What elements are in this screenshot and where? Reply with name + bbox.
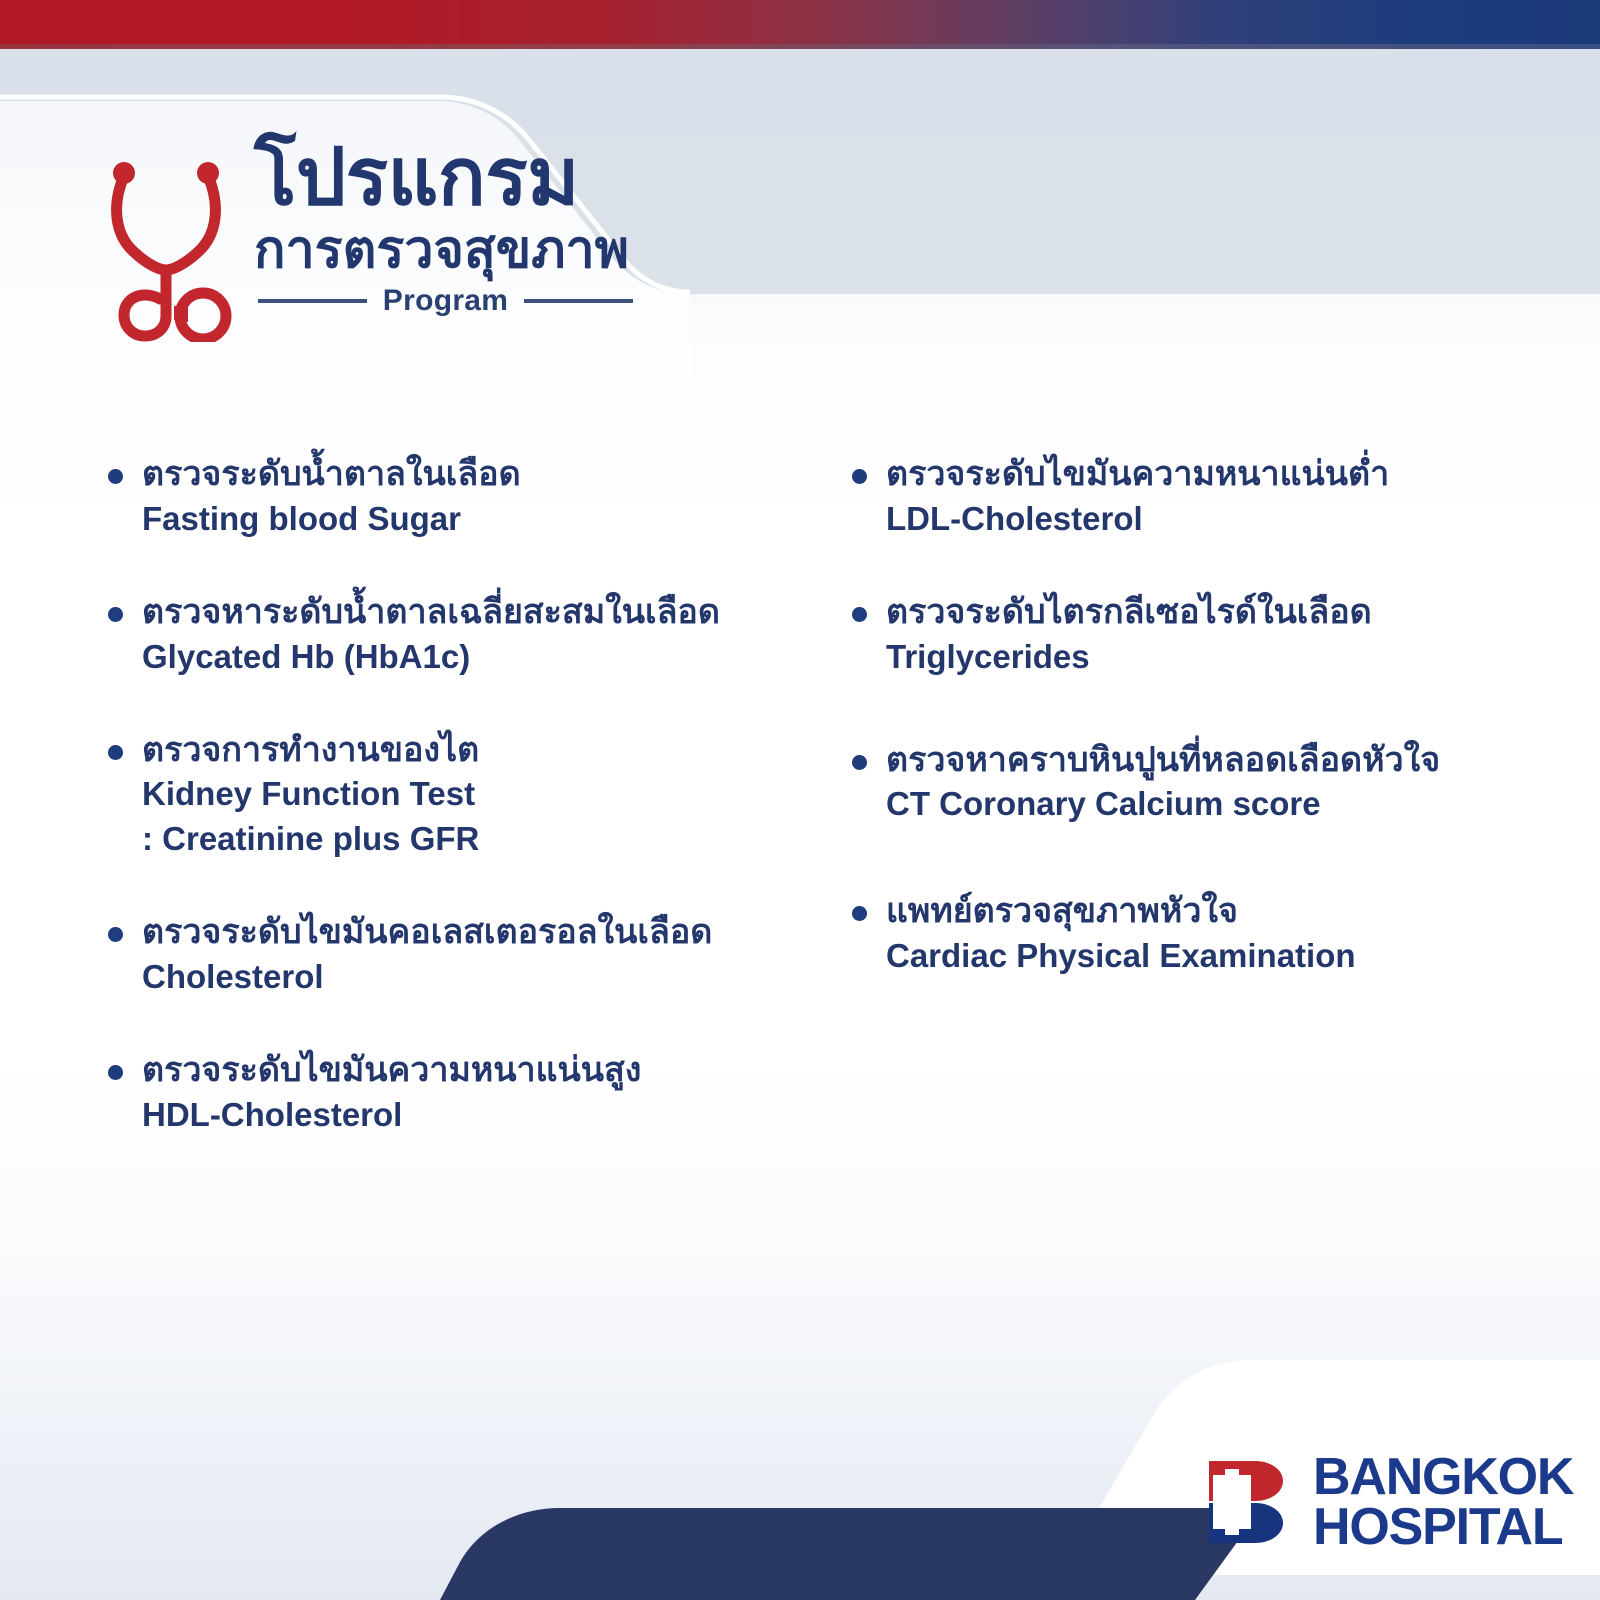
test-name-thai: ตรวจระดับไขมันความหนาแน่นต่ำ [886,452,1548,497]
left-test-list: ตรวจระดับน้ำตาลในเลือด Fasting blood Sug… [104,452,804,1186]
bullet-icon [108,1065,123,1080]
header-lockup: โปรแกรม การตรวจสุขภาพ Program [104,140,629,342]
list-item: ตรวจหาระดับน้ำตาลเฉลี่ยสะสมในเลือด Glyca… [104,590,804,680]
test-name-thai: ตรวจระดับไขมันคอเลสเตอรอลในเลือด [142,910,804,955]
bullet-icon [108,607,123,622]
bullet-icon [852,755,867,770]
program-rule-right [524,299,633,303]
bullet-icon [108,745,123,760]
page-title-thai-main: โปรแกรม [254,140,579,216]
list-item: ตรวจระดับไขมันความหนาแน่นต่ำ LDL-Cholest… [848,452,1548,542]
list-item: ตรวจระดับไตรกลีเซอไรด์ในเลือด Triglyceri… [848,590,1548,680]
list-item: ตรวจหาคราบหินปูนที่หลอดเลือดหัวใจ CT Cor… [848,738,1548,828]
list-item: ตรวจระดับไขมันคอเลสเตอรอลในเลือด Cholest… [104,910,804,1000]
test-name-english: Cholesterol [142,955,804,1000]
list-item: ตรวจระดับน้ำตาลในเลือด Fasting blood Sug… [104,452,804,542]
bullet-icon [852,469,867,484]
test-name-thai: ตรวจหาคราบหินปูนที่หลอดเลือดหัวใจ [886,738,1548,783]
test-name-english: HDL-Cholesterol [142,1093,804,1138]
page-title-thai-sub: การตรวจสุขภาพ [254,222,629,278]
test-name-english: LDL-Cholesterol [886,497,1548,542]
test-name-thai: แพทย์ตรวจสุขภาพหัวใจ [886,889,1548,934]
test-name-english: Triglycerides [886,635,1548,680]
program-label: Program [383,284,508,318]
program-divider-row: Program [254,284,633,318]
right-test-list: ตรวจระดับไขมันความหนาแน่นต่ำ LDL-Cholest… [848,452,1548,1027]
list-item: แพทย์ตรวจสุขภาพหัวใจ Cardiac Physical Ex… [848,889,1548,979]
test-name-english: Kidney Function Test [142,772,804,817]
top-banner-edge [0,44,1600,49]
program-rule-left [258,299,367,303]
brand-line-2: HOSPITAL [1313,1502,1573,1552]
bangkok-hospital-b-cross-icon [1205,1459,1291,1545]
list-item: ตรวจการทำงานของไต Kidney Function Test :… [104,728,804,863]
bullet-icon [108,469,123,484]
test-name-thai: ตรวจระดับไขมันความหนาแน่นสูง [142,1048,804,1093]
bullet-icon [108,927,123,942]
test-name-thai: ตรวจระดับไตรกลีเซอไรด์ในเลือด [886,590,1548,635]
test-name-thai: ตรวจการทำงานของไต [142,728,804,773]
test-name-english-cont: : Creatinine plus GFR [142,817,804,862]
test-name-thai: ตรวจระดับน้ำตาลในเลือด [142,452,804,497]
top-gradient-banner [0,0,1600,44]
bangkok-hospital-wordmark: BANGKOK HOSPITAL [1313,1452,1573,1553]
bullet-icon [852,607,867,622]
test-name-thai: ตรวจหาระดับน้ำตาลเฉลี่ยสะสมในเลือด [142,590,804,635]
stethoscope-icon [104,146,236,342]
bullet-icon [852,906,867,921]
brand-line-1: BANGKOK [1313,1452,1573,1502]
list-item: ตรวจระดับไขมันความหนาแน่นสูง HDL-Cholest… [104,1048,804,1138]
test-name-english: Cardiac Physical Examination [886,934,1548,979]
infographic-canvas: โปรแกรม การตรวจสุขภาพ Program ตรวจระดับน… [0,0,1600,1600]
test-name-english: Glycated Hb (HbA1c) [142,635,804,680]
test-name-english: Fasting blood Sugar [142,497,804,542]
test-name-english: CT Coronary Calcium score [886,782,1548,827]
header-title-block: โปรแกรม การตรวจสุขภาพ Program [254,140,629,318]
bangkok-hospital-logo: BANGKOK HOSPITAL [1205,1452,1573,1553]
